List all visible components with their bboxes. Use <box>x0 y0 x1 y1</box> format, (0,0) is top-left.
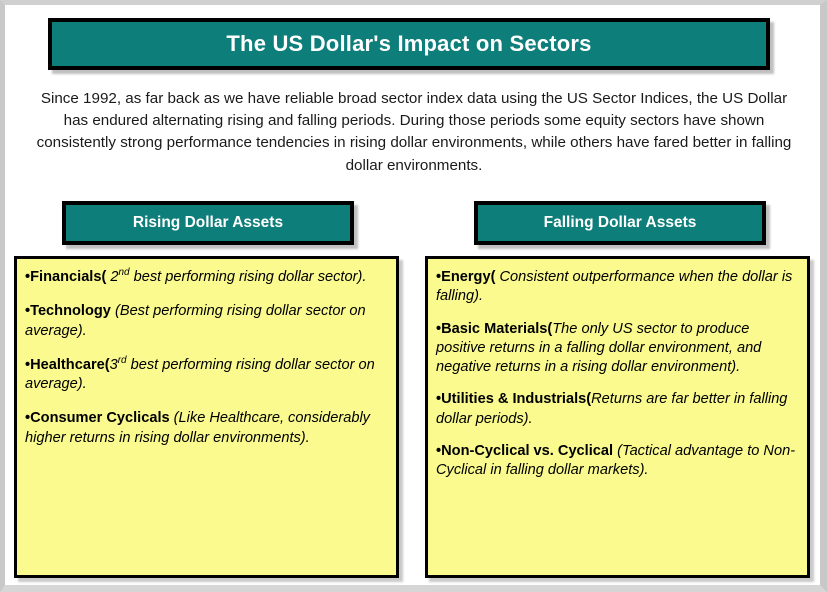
slide-canvas: The US Dollar's Impact on Sectors Since … <box>0 0 827 592</box>
falling-dollar-assets-header: Falling Dollar Assets <box>474 201 766 245</box>
list-item-term: Healthcare( <box>30 357 110 373</box>
list-item: •Basic Materials(The only US sector to p… <box>436 320 797 378</box>
list-item: •Consumer Cyclicals (Like Healthcare, co… <box>25 409 386 448</box>
list-item: •Technology (Best performing rising doll… <box>25 302 386 341</box>
list-item-term: Technology <box>30 303 111 319</box>
rising-dollar-assets-panel: •Financials( 2nd best performing rising … <box>14 256 399 578</box>
list-item: •Non-Cyclical vs. Cyclical (Tactical adv… <box>436 442 797 481</box>
list-item: •Financials( 2nd best performing rising … <box>25 268 386 287</box>
list-item: •Energy( Consistent outperformance when … <box>436 268 797 307</box>
list-item-term: Utilities & Industrials( <box>441 391 591 407</box>
falling-dollar-assets-header-text: Falling Dollar Assets <box>544 214 697 232</box>
page-title: The US Dollar's Impact on Sectors <box>48 18 770 70</box>
list-item-term: Non-Cyclical vs. Cyclical <box>441 443 613 459</box>
ordinal-suffix: rd <box>118 355 127 366</box>
ordinal-suffix: nd <box>119 267 130 278</box>
list-item-term: Basic Materials( <box>441 321 552 337</box>
falling-dollar-assets-panel: •Energy( Consistent outperformance when … <box>425 256 810 578</box>
page-title-text: The US Dollar's Impact on Sectors <box>226 31 591 57</box>
list-item: •Utilities & Industrials(Returns are far… <box>436 390 797 429</box>
rising-dollar-assets-header-text: Rising Dollar Assets <box>133 214 283 232</box>
intro-paragraph: Since 1992, as far back as we have relia… <box>30 88 798 177</box>
list-item-term: Consumer Cyclicals <box>30 410 170 426</box>
list-item: •Healthcare(3rd best performing rising d… <box>25 356 386 395</box>
list-item-term: Financials( <box>30 269 106 285</box>
list-item-term: Energy( <box>441 269 495 285</box>
list-item-description: 2nd best performing rising dollar sector… <box>106 269 366 285</box>
rising-dollar-assets-header: Rising Dollar Assets <box>62 201 354 245</box>
